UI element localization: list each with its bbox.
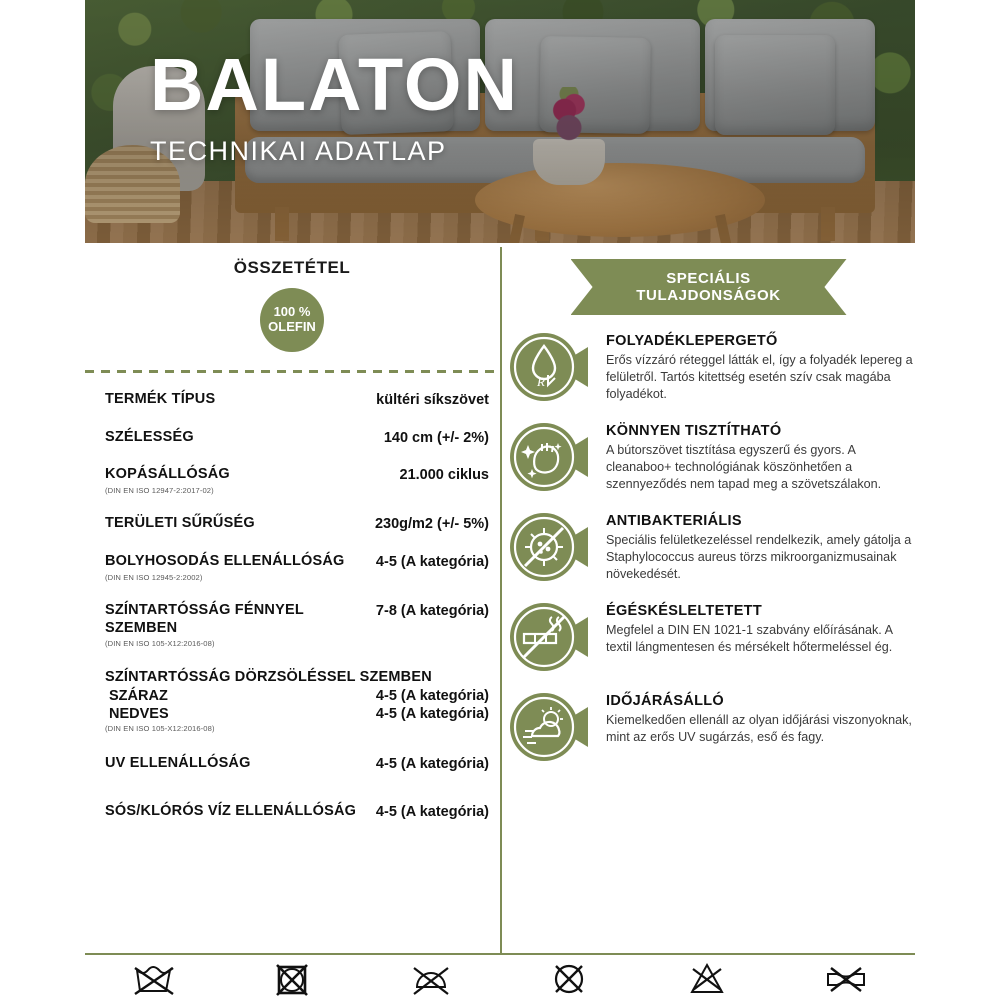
spec-label: SZÉLESSÉG — [105, 429, 374, 447]
svg-text:R: R — [536, 374, 545, 389]
table-row: UV ELLENÁLLÓSÁG 4-5 (A kategória) — [105, 755, 489, 773]
care-symbols-divider — [85, 953, 915, 955]
composition-title: ÖSSZETÉTEL — [85, 243, 499, 278]
feature-title: KÖNNYEN TISZTÍTHATÓ — [606, 423, 915, 440]
spec-value: 4-5 (A kategória) — [376, 755, 489, 772]
table-row: BOLYHOSODÁS ELLENÁLLÓSÁG (DIN EN ISO 129… — [105, 553, 489, 582]
table-row: SZÍNTARTÓSSÁG FÉNNYEL SZEMBEN (DIN EN IS… — [105, 602, 489, 649]
do-not-dry-clean-icon — [401, 959, 461, 999]
composition-percent: 100 % — [274, 305, 311, 320]
spec-standard: (DIN EN ISO 12947-2:2017-02) — [105, 486, 390, 495]
datasheet-page: BALATON TECHNIKAI ADATLAP ÖSSZETÉTEL 100… — [0, 0, 1000, 1000]
spec-standard: (DIN EN ISO 105-X12:2016-08) — [105, 639, 366, 648]
table-row: SÓS/KLÓRÓS VÍZ ELLENÁLLÓSÁG 4-5 (A kateg… — [105, 803, 489, 821]
composition-badge: 100 % OLEFIN — [260, 288, 324, 352]
spec-label: TERMÉK TÍPUS — [105, 391, 366, 409]
feature-item-easy-clean: KÖNNYEN TISZTÍTHATÓ A bútorszövet tisztí… — [502, 421, 915, 495]
feature-title: FOLYADÉKLEPERGETŐ — [606, 333, 915, 350]
spec-label: SÓS/KLÓRÓS VÍZ ELLENÁLLÓSÁG — [105, 803, 366, 821]
spec-sublabel: SZÁRAZ — [105, 688, 168, 704]
feature-description: Erős vízzáró réteggel látták el, így a f… — [606, 352, 915, 402]
table-row: TERMÉK TÍPUS kültéri síkszövet — [105, 391, 489, 409]
feature-item-antibacterial: ANTIBAKTERIÁLIS Speciális felületkezelés… — [502, 511, 915, 585]
feature-item-liquid-repellent: R FOLYADÉKLEPERGETŐ Erős vízzáró rétegge… — [502, 331, 915, 405]
spec-sublabel: NEDVES — [105, 706, 169, 722]
page-title: BALATON — [150, 48, 519, 122]
no-smoking-flame-retardant-icon — [508, 601, 594, 675]
spec-subrow-wet: NEDVES 4-5 (A kategória) — [105, 706, 489, 722]
antibacterial-icon — [508, 511, 594, 585]
table-row: TERÜLETI SŰRŰSÉG 230g/m2 (+/- 5%) — [105, 515, 489, 533]
spec-value: 140 cm (+/- 2%) — [384, 429, 489, 446]
spec-label: TERÜLETI SŰRŰSÉG — [105, 515, 365, 533]
table-row-rubbing: SZÍNTARTÓSSÁG DÖRZSÖLÉSSEL SZEMBEN SZÁRA… — [105, 669, 489, 734]
feature-item-flame-retardant: ÉGÉSKÉSLELTETETT Megfelel a DIN EN 1021-… — [502, 601, 915, 675]
feature-item-weatherproof: IDŐJÁRÁSÁLLÓ Kiemelkedően ellenáll az ol… — [502, 691, 915, 765]
do-not-dry-clean-circle-icon — [539, 959, 599, 999]
features-ribbon: SPECIÁLIS TULAJDONSÁGOK — [571, 259, 847, 315]
features-column: SPECIÁLIS TULAJDONSÁGOK R — [502, 243, 915, 953]
feature-description: Kiemelkedően ellenáll az olyan időjárási… — [606, 712, 915, 745]
spec-value: 7-8 (A kategória) — [376, 602, 489, 619]
feature-title: IDŐJÁRÁSÁLLÓ — [606, 693, 915, 710]
feature-description: Megfelel a DIN EN 1021-1 szabvány előírá… — [606, 622, 915, 655]
spec-label: SZÍNTARTÓSSÁG DÖRZSÖLÉSSEL SZEMBEN — [105, 669, 489, 687]
feature-title: ÉGÉSKÉSLELTETETT — [606, 603, 915, 620]
feature-description: A bútorszövet tisztítása egyszerű és gyo… — [606, 442, 915, 492]
care-symbols-row — [85, 958, 915, 1000]
spec-value: 4-5 (A kategória) — [376, 803, 489, 820]
spec-value: kültéri síkszövet — [376, 391, 489, 408]
feature-description: Speciális felületkezeléssel rendelkezik,… — [606, 532, 915, 582]
feature-title: ANTIBAKTERIÁLIS — [606, 513, 915, 530]
page-subtitle: TECHNIKAI ADATLAP — [150, 136, 519, 167]
spec-standard: (DIN EN ISO 105-X12:2016-08) — [105, 724, 489, 733]
water-drop-repellent-icon: R — [508, 331, 594, 405]
spec-standard: (DIN EN ISO 12945-2:2002) — [105, 573, 366, 582]
spec-subvalue: 4-5 (A kategória) — [376, 706, 489, 722]
spec-list: TERMÉK TÍPUS kültéri síkszövet SZÉLESSÉG… — [85, 373, 499, 821]
table-row: KOPÁSÁLLÓSÁG (DIN EN ISO 12947-2:2017-02… — [105, 466, 489, 495]
spec-label: UV ELLENÁLLÓSÁG — [105, 755, 366, 773]
do-not-wash-icon — [124, 959, 184, 999]
do-not-bleach-icon — [677, 959, 737, 999]
hero-banner: BALATON TECHNIKAI ADATLAP — [85, 0, 915, 243]
spec-value: 230g/m2 (+/- 5%) — [375, 515, 489, 532]
spec-label: SZÍNTARTÓSSÁG FÉNNYEL SZEMBEN (DIN EN IS… — [105, 602, 366, 649]
spec-value: 4-5 (A kategória) — [376, 553, 489, 570]
spec-label: BOLYHOSODÁS ELLENÁLLÓSÁG (DIN EN ISO 129… — [105, 553, 366, 582]
specifications-column: ÖSSZETÉTEL 100 % OLEFIN TERMÉK TÍPUS kül… — [85, 243, 499, 953]
spec-label: KOPÁSÁLLÓSÁG (DIN EN ISO 12947-2:2017-02… — [105, 466, 390, 495]
composition-material: OLEFIN — [268, 320, 316, 335]
hero-text-block: BALATON TECHNIKAI ADATLAP — [150, 48, 519, 167]
spec-value: 21.000 ciklus — [400, 466, 490, 483]
cleaning-hand-icon — [508, 421, 594, 495]
weather-sun-cloud-icon — [508, 691, 594, 765]
features-header-line2: TULAJDONSÁGOK — [636, 287, 780, 304]
do-not-tumble-dry-icon — [262, 959, 322, 999]
features-header-line1: SPECIÁLIS — [666, 270, 751, 287]
do-not-wring-icon — [816, 959, 876, 999]
spec-subrow-dry: SZÁRAZ 4-5 (A kategória) — [105, 688, 489, 704]
table-row: SZÉLESSÉG 140 cm (+/- 2%) — [105, 429, 489, 447]
spec-subvalue: 4-5 (A kategória) — [376, 688, 489, 704]
content-columns: ÖSSZETÉTEL 100 % OLEFIN TERMÉK TÍPUS kül… — [85, 243, 915, 953]
